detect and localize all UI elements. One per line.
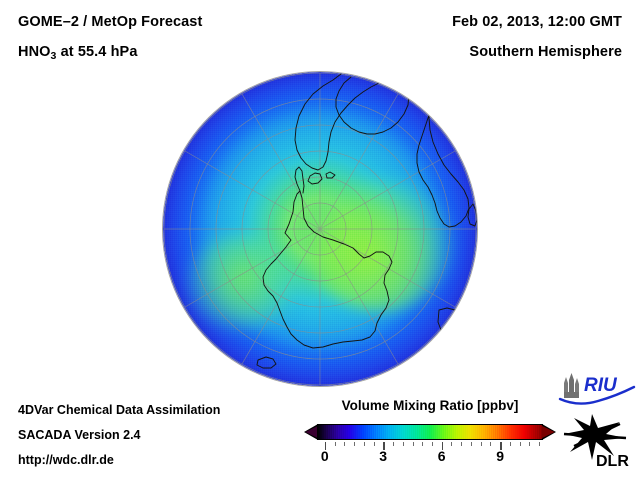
colorbar-tick-label: 3: [379, 448, 387, 464]
colorbar-minor-tick: [539, 442, 540, 446]
dlr-wordmark: DLR: [596, 453, 629, 470]
map-panel: [163, 72, 477, 386]
coastline-africa: [417, 94, 469, 227]
hemisphere-label: Southern Hemisphere: [469, 44, 622, 60]
colorbar-minor-tick: [364, 442, 365, 446]
colorbar-tick-label: 0: [321, 448, 329, 464]
colorbar-tick-labels: 0369: [304, 448, 556, 466]
colorbar-minor-tick: [451, 442, 452, 446]
colorbar-minor-tick: [490, 442, 491, 446]
colorbar-minor-tick: [413, 442, 414, 446]
coastline-new-zealand: [407, 358, 417, 371]
riu-wordmark: RIU: [584, 375, 618, 396]
colorbar-minor-tick: [393, 442, 394, 446]
coastline-falkland-islands: [326, 172, 335, 178]
colorbar-low-extend-arrow: [304, 424, 318, 440]
figure-canvas: GOME–2 / MetOp Forecast HNO3 at 55.4 hPa…: [0, 0, 640, 480]
method-label: 4DVar Chemical Data Assimilation: [18, 403, 220, 417]
colorbar-gradient: [317, 424, 543, 440]
colorbar-tick-label: 6: [438, 448, 446, 464]
riu-logo: RIU: [558, 371, 636, 407]
colorbar-minor-tick: [481, 442, 482, 446]
version-label: SACADA Version 2.4: [18, 428, 141, 442]
colorbar-minor-tick: [335, 442, 336, 446]
colorbar-minor-tick: [403, 442, 404, 446]
colorbar-minor-tick: [354, 442, 355, 446]
colorbar-minor-tick: [471, 442, 472, 446]
colorbar-minor-tick: [432, 442, 433, 446]
colorbar-bar-row: [304, 422, 556, 442]
coastline-antarctica: [263, 191, 392, 348]
colorbar-tick-label: 9: [496, 448, 504, 464]
colorbar-high-extend-arrow: [542, 424, 556, 440]
colorbar-minor-tick: [374, 442, 375, 446]
colorbar-minor-tick: [520, 442, 521, 446]
website-url[interactable]: http://wdc.dlr.de: [18, 453, 114, 467]
colorbar-minor-tick: [461, 442, 462, 446]
colorbar-minor-tick: [510, 442, 511, 446]
page-title: GOME–2 / MetOp Forecast: [18, 14, 202, 30]
colorbar-minor-tick: [529, 442, 530, 446]
pressure-level-text: at 55.4 hPa: [56, 44, 137, 60]
forecast-datetime: Feb 02, 2013, 12:00 GMT: [452, 14, 622, 30]
coastline-south-georgia: [257, 357, 276, 368]
dlr-logo: DLR: [562, 412, 634, 470]
colorbar-minor-tick: [422, 442, 423, 446]
orthographic-globe: [163, 72, 477, 386]
species-formula-prefix: HNO: [18, 44, 51, 60]
colorbar: Volume Mixing Ratio [ppbv] 0369: [304, 398, 556, 468]
colorbar-minor-tick: [344, 442, 345, 446]
species-level-label: HNO3 at 55.4 hPa: [18, 44, 137, 62]
riu-tower-icon: [564, 373, 579, 398]
colorbar-title: Volume Mixing Ratio [ppbv]: [304, 398, 556, 413]
map-overlay: [163, 72, 477, 386]
